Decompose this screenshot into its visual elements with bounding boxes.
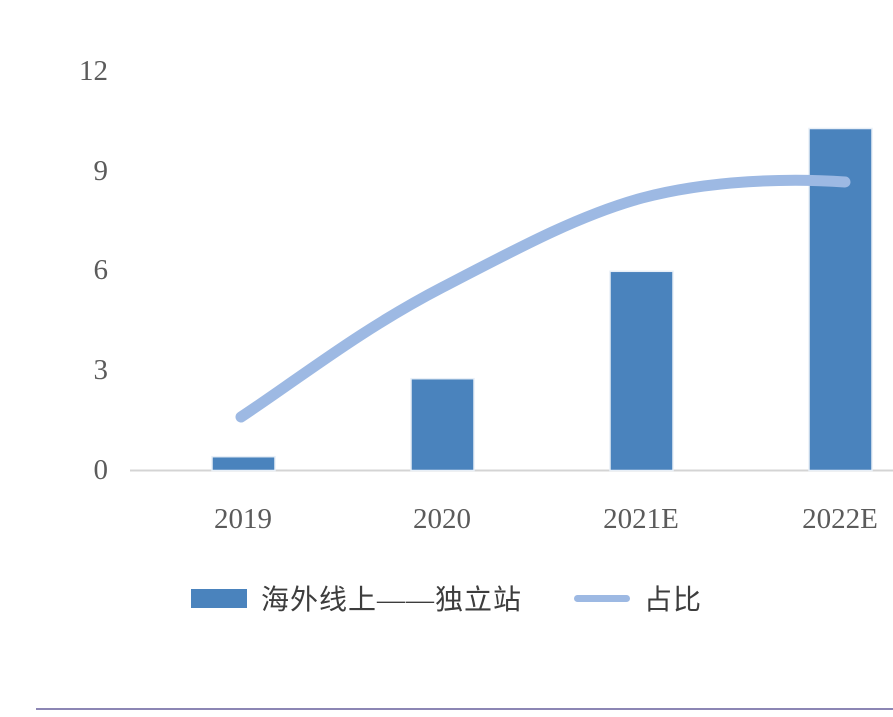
plot-area: 12 9 6 3 0 2019 2020 2021E 2022E [0,0,893,560]
chart-figure: 12 9 6 3 0 2019 2020 2021E 2022E 海外线上——独… [0,0,893,717]
legend-item-line[interactable]: 占比 [574,578,702,618]
line-path [241,180,845,417]
legend-item-bar[interactable]: 海外线上——独立站 [191,578,522,618]
line-series [241,180,845,417]
y-tick-3: 3 [48,356,108,385]
legend-label-line: 占比 [644,578,702,618]
x-tick-2022E: 2022E [760,505,893,534]
y-tick-0: 0 [48,456,108,485]
y-tick-9: 9 [48,157,108,186]
y-tick-6: 6 [48,256,108,285]
bar-2021E [610,271,673,470]
line-swatch-icon [574,595,630,602]
y-tick-12: 12 [48,57,108,86]
bar-2019 [212,457,275,471]
chart-canvas [0,0,893,560]
x-tick-2020: 2020 [362,505,522,534]
chart-legend: 海外线上——独立站 占比 [0,578,893,618]
bar-2020 [411,379,474,471]
footer-divider [36,708,893,710]
bar-swatch-icon [191,589,247,608]
legend-label-bar: 海外线上——独立站 [261,578,522,618]
x-tick-2019: 2019 [163,505,323,534]
x-tick-2021E: 2021E [561,505,721,534]
